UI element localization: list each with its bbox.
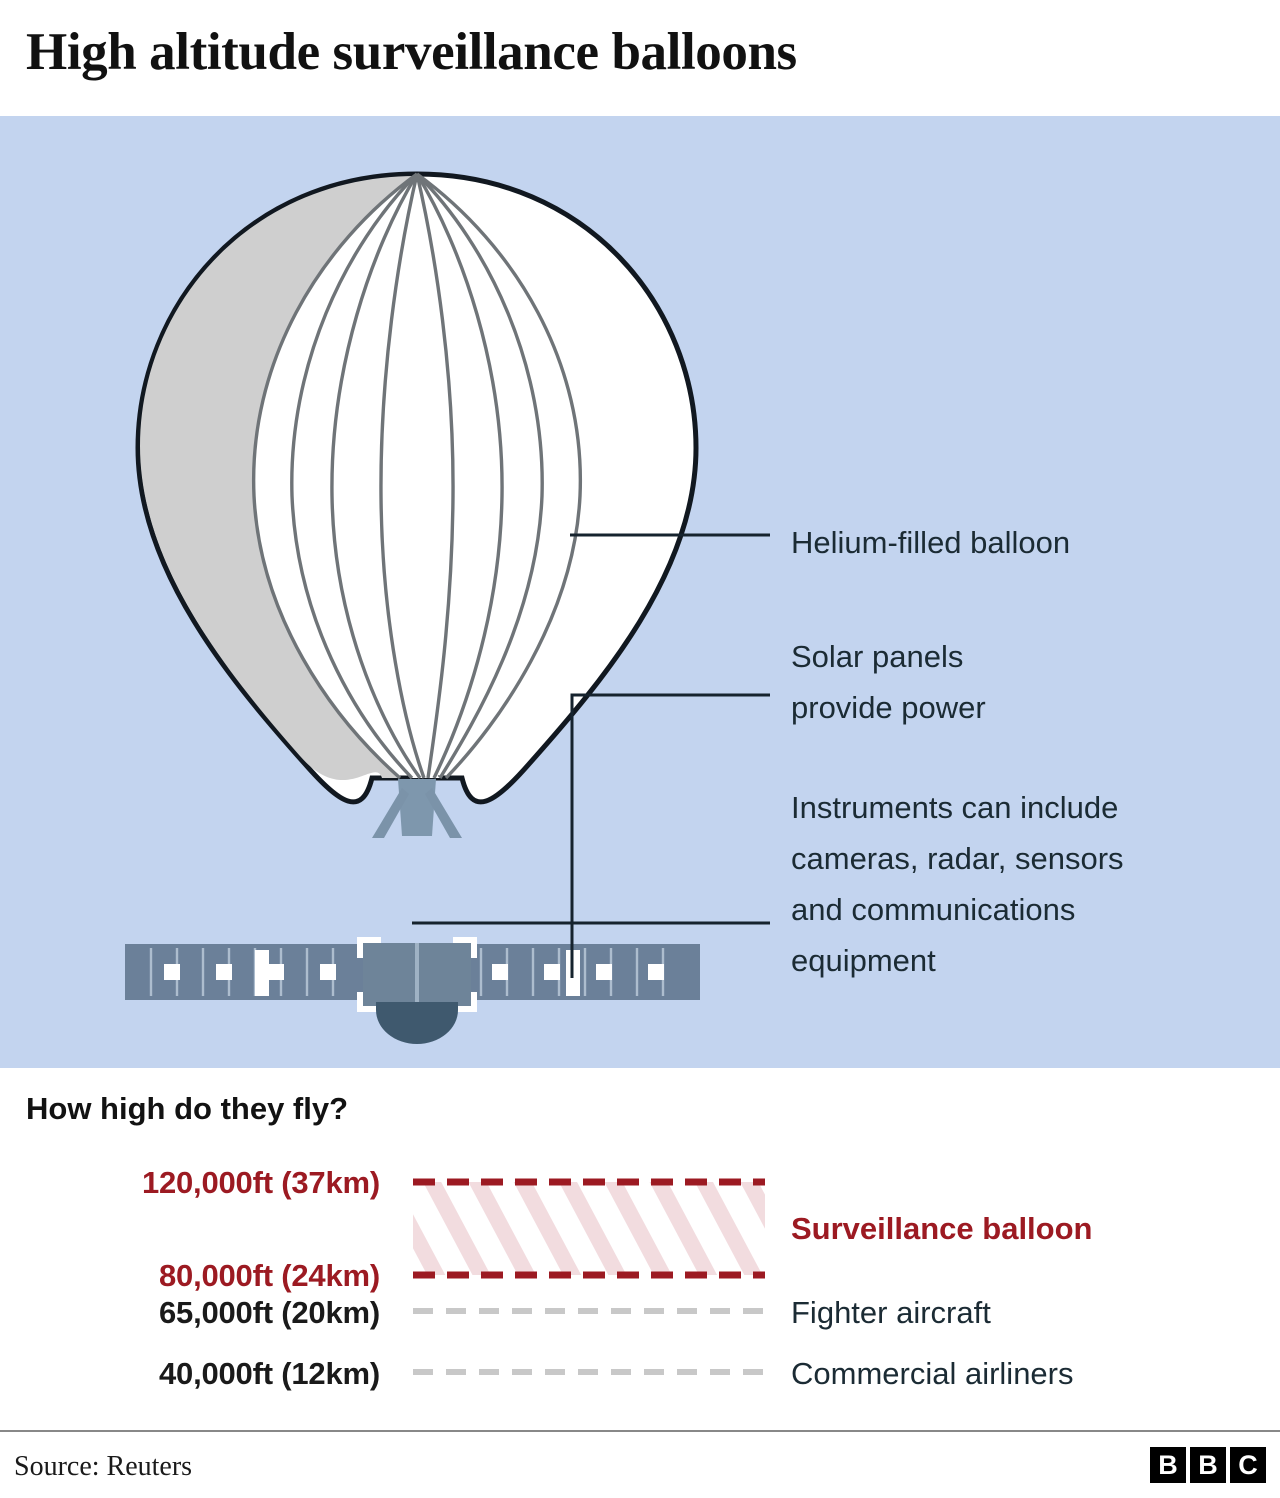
page-title: High altitude surveillance balloons [26,22,797,82]
legend-commercial-airliners: Commercial airliners [791,1356,1074,1392]
callout-solar-panels: Solar panels provide power [791,631,986,733]
legend-fighter-aircraft: Fighter aircraft [791,1295,991,1331]
surveillance-band [413,1182,765,1275]
bbc-logo-letter-3: C [1230,1447,1266,1483]
bbc-logo-letter-2: B [1190,1447,1226,1483]
balloon-neck [398,779,436,836]
illustration-panel: Helium-filled balloon Solar panels provi… [0,116,1280,1068]
footer: Source: Reuters B B C [0,1430,1280,1498]
altitude-label-40000ft: 40,000ft (12km) [20,1356,380,1392]
altitude-label-65000ft: 65,000ft (20km) [20,1295,380,1331]
leader-line-solar [572,695,770,978]
source-credit: Source: Reuters [14,1451,192,1483]
legend-surveillance-balloon: Surveillance balloon [791,1211,1092,1247]
balloon-envelope [138,174,696,802]
altitude-label-80000ft: 80,000ft (24km) [20,1258,380,1294]
infographic-page: High altitude surveillance balloons [0,0,1280,1498]
callout-helium-balloon: Helium-filled balloon [791,517,1070,568]
callout-instruments: Instruments can include cameras, radar, … [791,782,1124,986]
bbc-logo-letter-1: B [1150,1447,1186,1483]
sensor-dome [376,1002,458,1044]
instrument-box [360,940,474,1009]
altitude-section: How high do they fly? 120,000ft (37km) 8… [0,1068,1280,1430]
altitude-label-120000ft: 120,000ft (37km) [20,1165,380,1201]
footer-divider [0,1430,1280,1432]
header: High altitude surveillance balloons [0,0,1280,116]
bbc-logo: B B C [1150,1447,1266,1483]
